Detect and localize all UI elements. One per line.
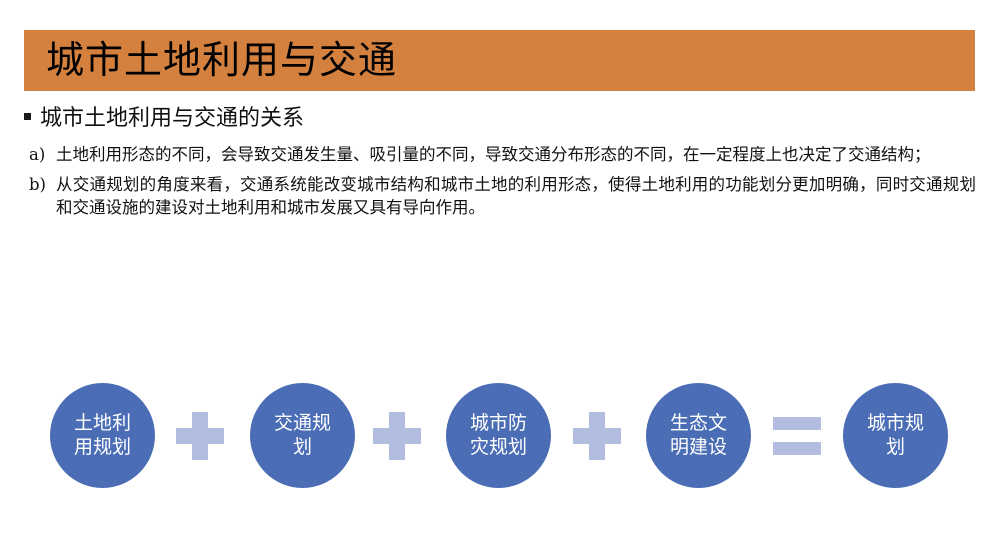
list-item-marker: b) bbox=[24, 173, 56, 196]
diagram-node-label: 生态文明建设 bbox=[665, 412, 733, 458]
diagram-node-transport-planning: 交通规划 bbox=[250, 383, 355, 488]
list-item-text: 从交通规划的角度来看，交通系统能改变城市结构和城市土地的利用形态，使得土地利用的… bbox=[56, 173, 976, 220]
equation-diagram: 土地利用规划 交通规划 城市防灾规划 生态文明建设 城市规划 bbox=[0, 383, 996, 493]
diagram-node-disaster-prevention-planning: 城市防灾规划 bbox=[446, 383, 551, 488]
title-banner: 城市土地利用与交通 bbox=[24, 30, 975, 91]
list-item: b) 从交通规划的角度来看，交通系统能改变城市结构和城市土地的利用形态，使得土地… bbox=[24, 173, 976, 220]
list-item-text: 土地利用形态的不同，会导致交通发生量、吸引量的不同，导致交通分布形态的不同，在一… bbox=[56, 143, 976, 166]
diagram-node-label: 交通规划 bbox=[269, 412, 337, 458]
diagram-node-land-use-planning: 土地利用规划 bbox=[50, 383, 155, 488]
diagram-node-label: 城市防灾规划 bbox=[465, 412, 533, 458]
plus-icon bbox=[176, 412, 224, 460]
diagram-node-label: 土地利用规划 bbox=[69, 412, 137, 458]
plus-icon bbox=[573, 412, 621, 460]
body-content: 城市土地利用与交通的关系 a) 土地利用形态的不同，会导致交通发生量、吸引量的不… bbox=[24, 105, 976, 227]
equals-icon-top-bar bbox=[773, 417, 821, 430]
list-item-marker: a) bbox=[24, 143, 56, 166]
square-bullet-icon bbox=[24, 113, 31, 120]
diagram-node-urban-planning: 城市规划 bbox=[843, 383, 948, 488]
list-item: a) 土地利用形态的不同，会导致交通发生量、吸引量的不同，导致交通分布形态的不同… bbox=[24, 143, 976, 166]
equals-icon-bottom-bar bbox=[773, 442, 821, 455]
plus-icon bbox=[373, 412, 421, 460]
page-title: 城市土地利用与交通 bbox=[46, 41, 397, 81]
plus-icon-vertical-bar bbox=[589, 412, 605, 460]
diagram-node-ecological-civilization: 生态文明建设 bbox=[646, 383, 751, 488]
plus-icon-vertical-bar bbox=[192, 412, 208, 460]
lead-bullet: 城市土地利用与交通的关系 bbox=[24, 105, 976, 134]
diagram-node-label: 城市规划 bbox=[862, 412, 930, 458]
lead-bullet-label: 城市土地利用与交通的关系 bbox=[40, 105, 304, 134]
equals-icon bbox=[773, 417, 821, 455]
plus-icon-vertical-bar bbox=[389, 412, 405, 460]
